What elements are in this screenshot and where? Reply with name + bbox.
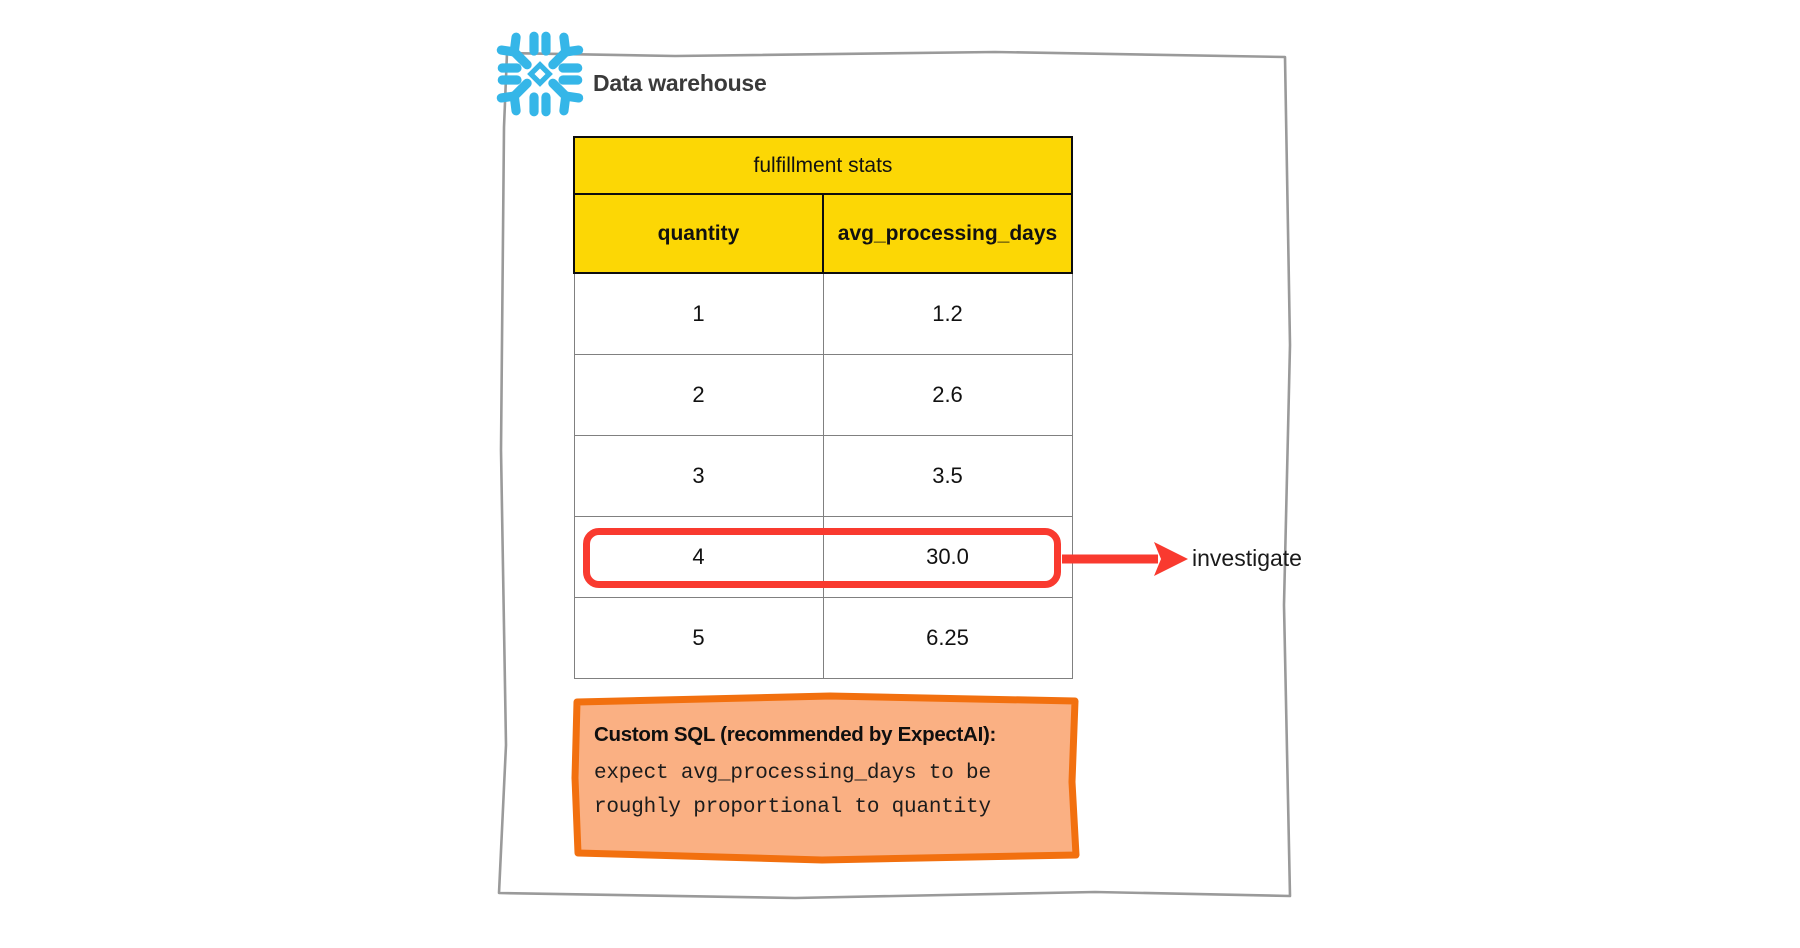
investigate-label: investigate [1192, 545, 1302, 572]
cell-quantity: 2 [574, 355, 823, 436]
custom-sql-callout: Custom SQL (recommended by ExpectAI): ex… [572, 692, 1080, 862]
table-row: 5 6.25 [574, 598, 1072, 679]
cell-quantity: 5 [574, 598, 823, 679]
right-arrow-icon [1062, 538, 1192, 580]
table-header-row: quantity avg_processing_days [574, 194, 1072, 273]
cell-quantity: 1 [574, 273, 823, 355]
column-header-avg-processing-days: avg_processing_days [823, 194, 1072, 273]
column-header-quantity: quantity [574, 194, 823, 273]
cell-avg-processing-days: 6.25 [823, 598, 1072, 679]
cell-quantity: 3 [574, 436, 823, 517]
cell-avg-processing-days: 1.2 [823, 273, 1072, 355]
table-row: 1 1.2 [574, 273, 1072, 355]
callout-code-line: expect avg_processing_days to be [594, 757, 1064, 791]
table-row: 2 2.6 [574, 355, 1072, 436]
cell-avg-processing-days: 3.5 [823, 436, 1072, 517]
table-title: fulfillment stats [574, 137, 1072, 194]
fulfillment-stats-table: fulfillment stats quantity avg_processin… [573, 136, 1073, 679]
anomaly-highlight-box [583, 528, 1061, 588]
callout-code-line: roughly proportional to quantity [594, 791, 1064, 825]
cell-avg-processing-days: 2.6 [823, 355, 1072, 436]
page-title: Data warehouse [593, 70, 767, 97]
table-row: 3 3.5 [574, 436, 1072, 517]
snowflake-icon [494, 28, 586, 120]
table-title-row: fulfillment stats [574, 137, 1072, 194]
callout-heading: Custom SQL (recommended by ExpectAI): [594, 723, 1064, 747]
